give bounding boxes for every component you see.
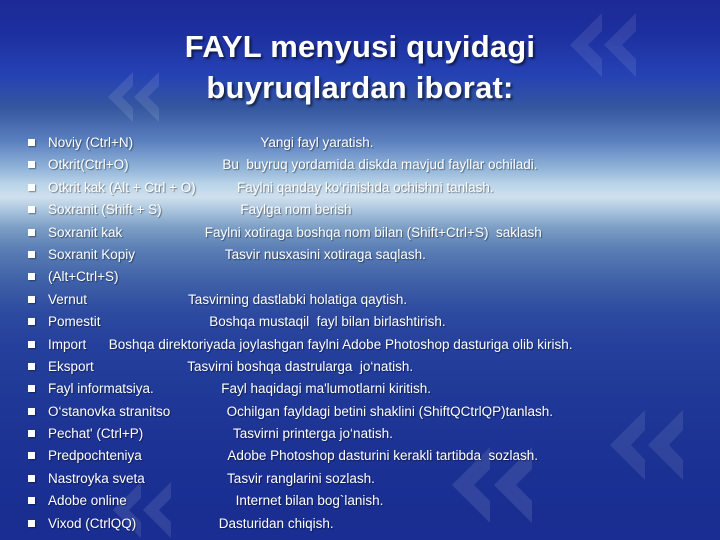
- list-item: Soxranit kak Faylni xotiraga boshqa nom …: [28, 222, 700, 244]
- bullet-icon: [28, 363, 35, 370]
- list-item-label: Adobe online Internet bilan bog`lanish.: [48, 490, 700, 512]
- bullet-icon: [28, 475, 35, 482]
- list-item-label: Import Boshqa direktoriyada joylashgan f…: [48, 334, 700, 356]
- list-item-label: Pomestit Boshqa mustaqil fayl bilan birl…: [48, 311, 700, 333]
- page-title-line-1: FAYL menyusi quyidagi: [0, 26, 720, 67]
- bullet-icon: [28, 497, 35, 504]
- list-item-label: Eksport Tasvirni boshqa dastrularga jo‘n…: [48, 356, 700, 378]
- list-item-label: Pechat' (Ctrl+P) Tasvirni printerga jo‘n…: [48, 423, 700, 445]
- page-title-line-2: buyruqlardan iborat:: [0, 67, 720, 108]
- list-item-label: Predpochteniya Adobe Photoshop dasturini…: [48, 445, 700, 467]
- bullet-icon: [28, 161, 35, 168]
- list-item: Pechat' (Ctrl+P) Tasvirni printerga jo‘n…: [28, 423, 700, 445]
- list-item-label: Fayl informatsiya. Fayl haqidagi ma'lumo…: [48, 378, 700, 400]
- bullet-icon: [28, 251, 35, 258]
- list-item-label: Vernut Tasvirning dastlabki holatiga qay…: [48, 289, 700, 311]
- list-item: Soxranit Kopiy Tasvir nusxasini xotiraga…: [28, 244, 700, 266]
- list-item-label: Otkrit kak (Alt + Ctrl + O) Faylni qanda…: [48, 177, 700, 199]
- list-item: Noviy (Ctrl+N) Yangi fayl yaratish.: [28, 132, 700, 154]
- list-item: Vernut Tasvirning dastlabki holatiga qay…: [28, 289, 700, 311]
- bullet-icon: [28, 452, 35, 459]
- bullet-icon: [28, 520, 35, 527]
- bullet-icon: [28, 206, 35, 213]
- bullet-icon: [28, 385, 35, 392]
- list-item-label: (Alt+Ctrl+S): [48, 266, 700, 288]
- bullet-icon: [28, 139, 35, 146]
- list-item-label: Noviy (Ctrl+N) Yangi fayl yaratish.: [48, 132, 700, 154]
- list-item: Vixod (CtrlQQ) Dasturidan chiqish.: [28, 513, 700, 535]
- list-item-label: Vixod (CtrlQQ) Dasturidan chiqish.: [48, 513, 700, 535]
- bullet-icon: [28, 184, 35, 191]
- command-list: Noviy (Ctrl+N) Yangi fayl yaratish. Otkr…: [28, 132, 700, 535]
- list-item-label: Nastroyka sveta Tasvir ranglarini sozlas…: [48, 468, 700, 490]
- list-item: Predpochteniya Adobe Photoshop dasturini…: [28, 445, 700, 467]
- list-item: Import Boshqa direktoriyada joylashgan f…: [28, 334, 700, 356]
- bullet-icon: [28, 273, 35, 280]
- list-item: Adobe online Internet bilan bog`lanish.: [28, 490, 700, 512]
- list-item: Soxranit (Shift + S) Faylga nom berish: [28, 199, 700, 221]
- list-item: O‘stanovka stranitso Ochilgan fayldagi b…: [28, 401, 700, 423]
- list-item: Nastroyka sveta Tasvir ranglarini sozlas…: [28, 468, 700, 490]
- list-item-label: Soxranit Kopiy Tasvir nusxasini xotiraga…: [48, 244, 700, 266]
- bullet-icon: [28, 296, 35, 303]
- slide: FAYL menyusi quyidagi buyruqlardan ibora…: [0, 0, 720, 540]
- list-item-label: O‘stanovka stranitso Ochilgan fayldagi b…: [48, 401, 700, 423]
- page-title: FAYL menyusi quyidagi buyruqlardan ibora…: [0, 26, 720, 108]
- list-item-label: Otkrit(Ctrl+O) Bu buyruq yordamida diskd…: [48, 154, 700, 176]
- bullet-icon: [28, 318, 35, 325]
- bullet-icon: [28, 229, 35, 236]
- list-item-label: Soxranit kak Faylni xotiraga boshqa nom …: [48, 222, 700, 244]
- list-item: Otkrit(Ctrl+O) Bu buyruq yordamida diskd…: [28, 154, 700, 176]
- list-item: Fayl informatsiya. Fayl haqidagi ma'lumo…: [28, 378, 700, 400]
- list-item: (Alt+Ctrl+S): [28, 266, 700, 288]
- bullet-icon: [28, 408, 35, 415]
- list-item: Pomestit Boshqa mustaqil fayl bilan birl…: [28, 311, 700, 333]
- list-item: Otkrit kak (Alt + Ctrl + O) Faylni qanda…: [28, 177, 700, 199]
- list-item-label: Soxranit (Shift + S) Faylga nom berish: [48, 199, 700, 221]
- bullet-icon: [28, 430, 35, 437]
- list-item: Eksport Tasvirni boshqa dastrularga jo‘n…: [28, 356, 700, 378]
- bullet-icon: [28, 341, 35, 348]
